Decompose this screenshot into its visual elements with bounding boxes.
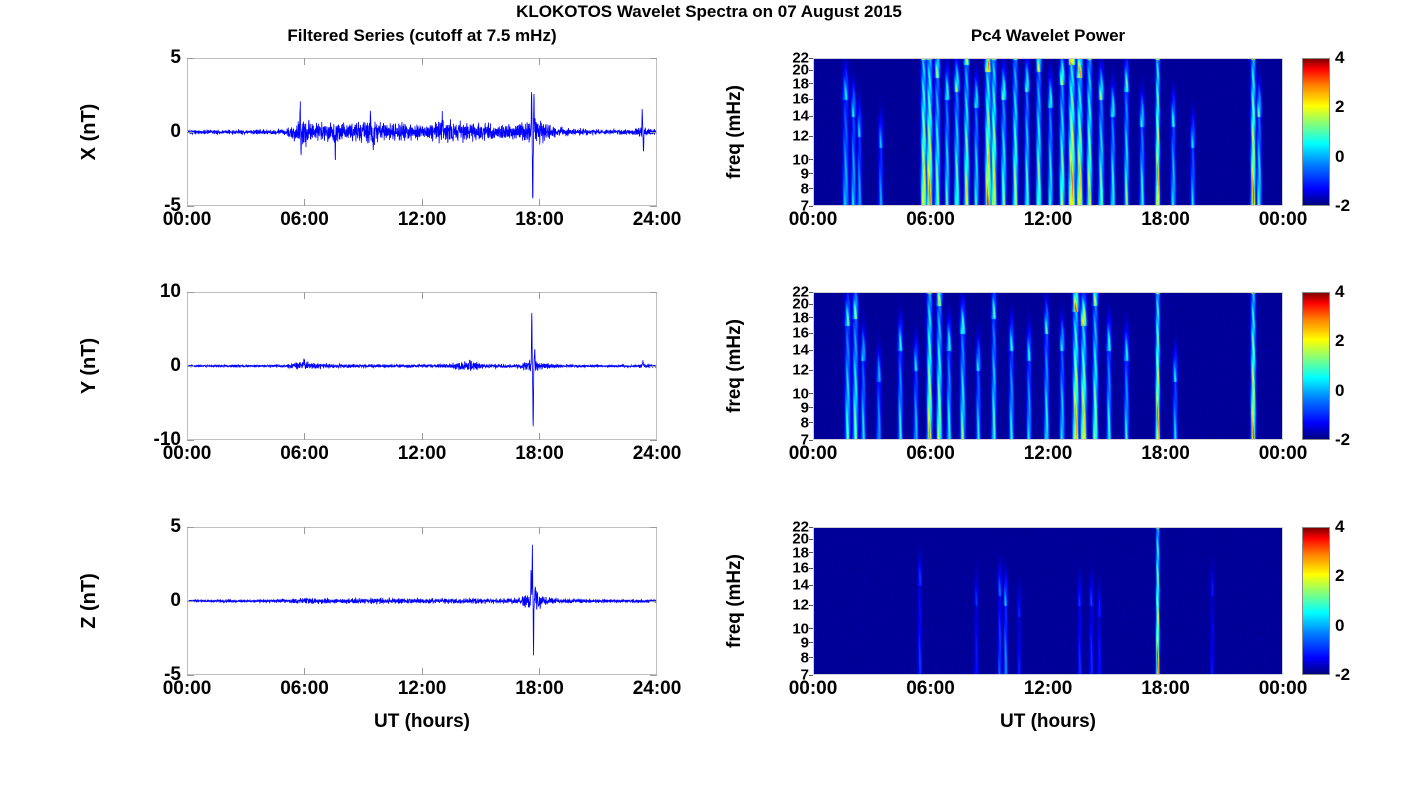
ftick-mark [809, 393, 813, 394]
xtick-mark [422, 668, 423, 675]
ftick-mark [809, 136, 813, 137]
ftick-label-z-3: 16 [769, 560, 809, 577]
xtick-label-y-4: 24:00 [611, 443, 703, 465]
ytick-mark [650, 440, 657, 441]
ftick-mark [809, 628, 813, 629]
ftick-mark [809, 333, 813, 334]
xlabel-right: UT (hours) [813, 711, 1283, 733]
ftick-label-z-5: 12 [769, 597, 809, 614]
colorbar-tick-z-0: 4 [1335, 517, 1344, 537]
colorbar-tick-y-2: 0 [1335, 381, 1344, 401]
xtick-label-z-2: 12:00 [376, 678, 468, 700]
colorbar-tick-x-1: 2 [1335, 97, 1344, 117]
colorbar-z [1302, 527, 1330, 675]
ytick-mark [650, 527, 657, 528]
colorbar-tick-x-2: 0 [1335, 147, 1344, 167]
ftick-mark [809, 605, 813, 606]
ftick-label-y-3: 16 [769, 325, 809, 342]
xtick-mark [422, 292, 423, 299]
ftick-mark [809, 116, 813, 117]
ytick-mark [187, 132, 194, 133]
ylabel-x: X (nT) [75, 52, 103, 212]
ytick-label-y-1: 0 [125, 355, 181, 377]
xtick-label-x-4: 24:00 [611, 209, 703, 231]
spec-xtick-label-z-1: 06:00 [885, 678, 977, 700]
ftick-label-y-4: 14 [769, 342, 809, 359]
spec-xtick-label-z-4: 00:00 [1237, 678, 1329, 700]
ytick-mark [187, 58, 194, 59]
colorbar-tick-x-0: 4 [1335, 48, 1344, 68]
ftick-mark [809, 657, 813, 658]
ftick-mark [809, 350, 813, 351]
freq-axis-label-z: freq (mHz) [721, 521, 749, 681]
xtick-mark [539, 58, 540, 65]
xtick-mark [539, 527, 540, 534]
spectrogram-y [813, 292, 1283, 440]
ytick-mark [187, 675, 194, 676]
ftick-label-y-8: 8 [769, 414, 809, 431]
colorbar-tick-y-1: 2 [1335, 331, 1344, 351]
xtick-mark [422, 58, 423, 65]
ftick-mark [809, 99, 813, 100]
ytick-label-x-0: 5 [125, 47, 181, 69]
xlabel-left: UT (hours) [187, 711, 657, 733]
xtick-mark [304, 58, 305, 65]
xtick-mark [539, 433, 540, 440]
xtick-label-x-2: 12:00 [376, 209, 468, 231]
waveform-z [188, 528, 656, 674]
ftick-label-z-4: 14 [769, 577, 809, 594]
xtick-mark [422, 199, 423, 206]
xtick-mark [422, 527, 423, 534]
xtick-mark [304, 292, 305, 299]
ftick-label-x-8: 8 [769, 180, 809, 197]
ytick-label-z-1: 0 [125, 590, 181, 612]
xtick-label-y-0: 00:00 [141, 443, 233, 465]
ftick-label-z-8: 8 [769, 649, 809, 666]
xtick-label-z-4: 24:00 [611, 678, 703, 700]
spec-xtick-label-x-1: 06:00 [885, 209, 977, 231]
spec-xtick-label-x-3: 18:00 [1120, 209, 1212, 231]
ftick-mark [809, 675, 813, 676]
spec-xtick-label-z-2: 12:00 [1002, 678, 1094, 700]
ytick-mark [650, 58, 657, 59]
ylabel-z: Z (nT) [75, 521, 103, 681]
ytick-mark [650, 601, 657, 602]
ftick-mark [809, 642, 813, 643]
left-column-title: Filtered Series (cutoff at 7.5 mHz) [187, 26, 657, 46]
figure-canvas: KLOKOTOS Wavelet Spectra on 07 August 20… [0, 0, 1418, 788]
ftick-mark [809, 552, 813, 553]
spec-xtick-label-x-0: 00:00 [767, 209, 859, 231]
ytick-mark [187, 440, 194, 441]
xtick-label-y-2: 12:00 [376, 443, 468, 465]
xtick-mark [304, 527, 305, 534]
colorbar-tick-x-3: -2 [1335, 196, 1350, 216]
ytick-mark [650, 292, 657, 293]
waveform-y [188, 293, 656, 439]
right-column-title: Pc4 Wavelet Power [813, 26, 1283, 46]
ftick-label-x-4: 14 [769, 108, 809, 125]
xtick-label-y-3: 18:00 [494, 443, 586, 465]
ftick-mark [809, 304, 813, 305]
xtick-mark [304, 668, 305, 675]
colorbar-tick-y-3: -2 [1335, 430, 1350, 450]
ytick-mark [187, 206, 194, 207]
xtick-label-x-3: 18:00 [494, 209, 586, 231]
ytick-mark [187, 292, 194, 293]
ytick-mark [650, 366, 657, 367]
ytick-mark [187, 527, 194, 528]
colorbar-x [1302, 58, 1330, 206]
ftick-mark [809, 292, 813, 293]
colorbar-tick-y-0: 4 [1335, 282, 1344, 302]
ftick-mark [809, 370, 813, 371]
spec-xtick-label-x-4: 00:00 [1237, 209, 1329, 231]
timeseries-axes-z [187, 527, 657, 675]
timeseries-axes-x [187, 58, 657, 206]
colorbar-tick-z-3: -2 [1335, 665, 1350, 685]
xtick-label-x-1: 06:00 [259, 209, 351, 231]
figure-suptitle: KLOKOTOS Wavelet Spectra on 07 August 20… [0, 2, 1418, 22]
spec-xtick-label-x-2: 12:00 [1002, 209, 1094, 231]
freq-axis-label-x: freq (mHz) [721, 52, 749, 212]
spec-xtick-label-y-1: 06:00 [885, 443, 977, 465]
colorbar-tick-z-1: 2 [1335, 566, 1344, 586]
ftick-mark [809, 317, 813, 318]
colorbar-y [1302, 292, 1330, 440]
ytick-mark [650, 132, 657, 133]
xtick-mark [539, 292, 540, 299]
ytick-mark [650, 206, 657, 207]
timeseries-axes-y [187, 292, 657, 440]
freq-axis-label-y: freq (mHz) [721, 286, 749, 446]
xtick-mark [304, 433, 305, 440]
ftick-label-x-3: 16 [769, 91, 809, 108]
spectrogram-canvas-z [814, 528, 1282, 674]
ftick-mark [809, 422, 813, 423]
ytick-label-z-0: 5 [125, 516, 181, 538]
spec-xtick-label-y-0: 00:00 [767, 443, 859, 465]
ytick-mark [187, 366, 194, 367]
xtick-mark [422, 433, 423, 440]
spec-xtick-label-y-2: 12:00 [1002, 443, 1094, 465]
ytick-label-x-1: 0 [125, 121, 181, 143]
xtick-mark [539, 668, 540, 675]
spec-xtick-label-z-3: 18:00 [1120, 678, 1212, 700]
ftick-mark [809, 568, 813, 569]
ftick-mark [809, 188, 813, 189]
ftick-mark [809, 83, 813, 84]
xtick-label-y-1: 06:00 [259, 443, 351, 465]
spectrogram-x [813, 58, 1283, 206]
ftick-label-y-5: 12 [769, 362, 809, 379]
spec-xtick-label-y-4: 00:00 [1237, 443, 1329, 465]
ftick-mark [809, 58, 813, 59]
ylabel-y: Y (nT) [75, 286, 103, 446]
ytick-mark [650, 675, 657, 676]
ftick-mark [809, 440, 813, 441]
xtick-mark [304, 199, 305, 206]
ytick-mark [187, 601, 194, 602]
ftick-mark [809, 159, 813, 160]
xtick-mark [539, 199, 540, 206]
xtick-label-z-3: 18:00 [494, 678, 586, 700]
colorbar-tick-z-2: 0 [1335, 616, 1344, 636]
ftick-label-x-5: 12 [769, 128, 809, 145]
xtick-label-x-0: 00:00 [141, 209, 233, 231]
ftick-mark [809, 539, 813, 540]
ftick-mark [809, 585, 813, 586]
ftick-mark [809, 527, 813, 528]
ftick-mark [809, 206, 813, 207]
ftick-mark [809, 70, 813, 71]
ftick-mark [809, 173, 813, 174]
spec-xtick-label-y-3: 18:00 [1120, 443, 1212, 465]
spectrogram-canvas-y [814, 293, 1282, 439]
ytick-label-y-0: 10 [125, 281, 181, 303]
waveform-x [188, 59, 656, 205]
xtick-label-z-1: 06:00 [259, 678, 351, 700]
spectrogram-z [813, 527, 1283, 675]
spec-xtick-label-z-0: 00:00 [767, 678, 859, 700]
xtick-label-z-0: 00:00 [141, 678, 233, 700]
spectrogram-canvas-x [814, 59, 1282, 205]
ftick-mark [809, 407, 813, 408]
